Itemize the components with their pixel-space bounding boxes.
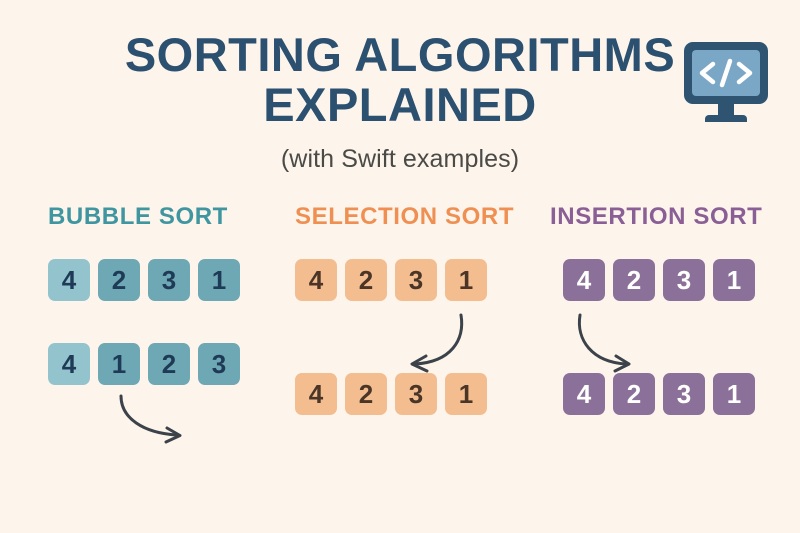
array-cell[interactable]: 2 [613,373,655,415]
array-row-selection-1: 4 2 3 1 [295,259,487,301]
array-cell[interactable]: 1 [445,373,487,415]
array-cell[interactable]: 2 [148,343,190,385]
infographic-canvas: SORTING ALGORITHMS EXPLAINED (with Swift… [0,0,800,533]
array-cell[interactable]: 3 [148,259,190,301]
array-row-insertion-2: 4 2 3 1 [563,373,755,415]
code-monitor-icon [683,41,769,123]
page-title-line-2: EXPLAINED [90,80,710,130]
swap-arrow-right-icon [105,392,205,447]
algorithm-column-insertion: INSERTION SORT 4 2 3 1 4 2 3 1 [550,203,790,231]
array-cell[interactable]: 2 [345,373,387,415]
insert-arrow-right-icon [570,312,660,378]
array-cell[interactable]: 3 [198,343,240,385]
array-cell[interactable]: 3 [663,373,705,415]
array-cell[interactable]: 4 [563,259,605,301]
array-cell[interactable]: 2 [98,259,140,301]
column-heading-insertion: INSERTION SORT [550,203,790,231]
array-cell[interactable]: 2 [345,259,387,301]
array-cell[interactable]: 4 [563,373,605,415]
array-cell[interactable]: 1 [713,373,755,415]
select-arrow-left-icon [395,312,485,378]
page-title: SORTING ALGORITHMS EXPLAINED [90,30,710,130]
algorithm-column-selection: SELECTION SORT 4 2 3 1 4 2 3 1 [295,203,525,231]
array-row-selection-2: 4 2 3 1 [295,373,487,415]
array-row-bubble-2: 4 1 2 3 [48,343,240,385]
array-cell[interactable]: 1 [713,259,755,301]
array-cell[interactable]: 4 [295,373,337,415]
array-cell[interactable]: 3 [663,259,705,301]
array-cell[interactable]: 3 [395,373,437,415]
page-subtitle: (with Swift examples) [0,145,800,174]
array-cell[interactable]: 3 [395,259,437,301]
array-cell[interactable]: 2 [613,259,655,301]
array-cell[interactable]: 4 [48,259,90,301]
array-row-insertion-1: 4 2 3 1 [563,259,755,301]
array-cell[interactable]: 1 [198,259,240,301]
array-row-bubble-1: 4 2 3 1 [48,259,240,301]
array-cell[interactable]: 4 [295,259,337,301]
column-heading-bubble: BUBBLE SORT [48,203,278,231]
array-cell[interactable]: 4 [48,343,90,385]
page-title-line-1: SORTING ALGORITHMS [125,28,675,81]
array-cell[interactable]: 1 [445,259,487,301]
algorithm-column-bubble: BUBBLE SORT 4 2 3 1 4 1 2 3 [48,203,278,231]
column-heading-selection: SELECTION SORT [295,203,525,231]
array-cell[interactable]: 1 [98,343,140,385]
header: SORTING ALGORITHMS EXPLAINED (with Swift… [0,30,800,174]
